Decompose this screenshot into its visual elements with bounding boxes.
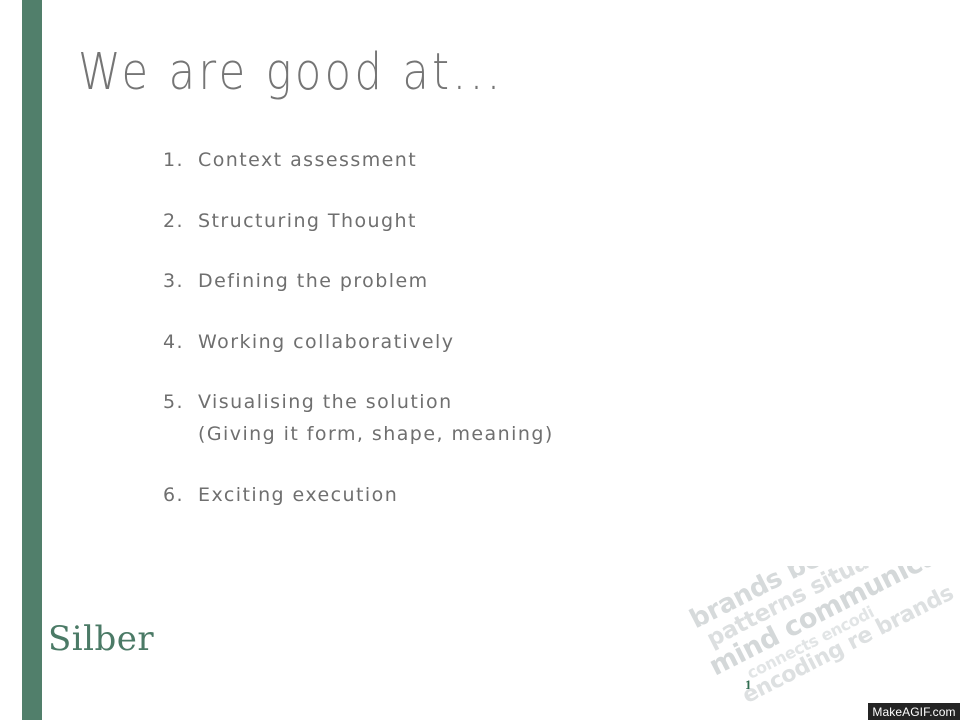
- page-title: We are good at...: [78, 44, 504, 99]
- list-item: 1. Context assessment: [163, 144, 803, 176]
- list-item: 5. Visualising the solution (Giving it f…: [163, 386, 803, 450]
- watermark-line: connects encodi: [744, 566, 960, 682]
- list-item-label: Structuring Thought: [198, 205, 803, 237]
- list-item-number: 4.: [163, 326, 198, 358]
- list-item-label: Context assessment: [198, 144, 803, 176]
- list-item-text: Context assessment: [198, 144, 803, 176]
- makeagif-watermark-badge: MakeAGIF.com: [868, 703, 960, 720]
- word-cloud-watermark: brands behaviour codin patterns situate …: [674, 566, 960, 720]
- list-item-text: Structuring Thought: [198, 205, 803, 237]
- list-item-text: Working collaboratively: [198, 326, 803, 358]
- agenda-list: 1. Context assessment 2. Structuring Tho…: [163, 144, 803, 539]
- list-item-label: Defining the problem: [198, 265, 803, 297]
- list-item-label: Working collaboratively: [198, 326, 803, 358]
- list-item-number: 3.: [163, 265, 198, 297]
- list-item: 4. Working collaboratively: [163, 326, 803, 358]
- list-item-number: 5.: [163, 386, 198, 418]
- watermark-line: mind communica: [705, 566, 960, 681]
- list-item-sublabel: (Giving it form, shape, meaning): [198, 418, 803, 450]
- list-item-label: Exciting execution: [198, 479, 803, 511]
- word-cloud-inner: brands behaviour codin patterns situate …: [686, 566, 960, 714]
- list-item-text: Visualising the solution (Giving it form…: [198, 386, 803, 450]
- list-item: 6. Exciting execution: [163, 479, 803, 511]
- watermark-line: brands behaviour codin: [686, 566, 960, 634]
- list-item-text: Exciting execution: [198, 479, 803, 511]
- list-item-text: Defining the problem: [198, 265, 803, 297]
- list-item-number: 1.: [163, 144, 198, 176]
- list-item-label: Visualising the solution: [198, 386, 803, 418]
- watermark-line: patterns situate rationale: [703, 566, 960, 652]
- presentation-slide: We are good at... 1. Context assessment …: [0, 0, 960, 720]
- list-item-number: 2.: [163, 205, 198, 237]
- watermark-line: encoding re brands: [739, 566, 960, 708]
- brand-logo: Silber: [48, 622, 154, 656]
- slide-number: 1: [745, 678, 752, 691]
- list-item: 3. Defining the problem: [163, 265, 803, 297]
- list-item-number: 6.: [163, 479, 198, 511]
- left-accent-bar: [22, 0, 42, 720]
- list-item: 2. Structuring Thought: [163, 205, 803, 237]
